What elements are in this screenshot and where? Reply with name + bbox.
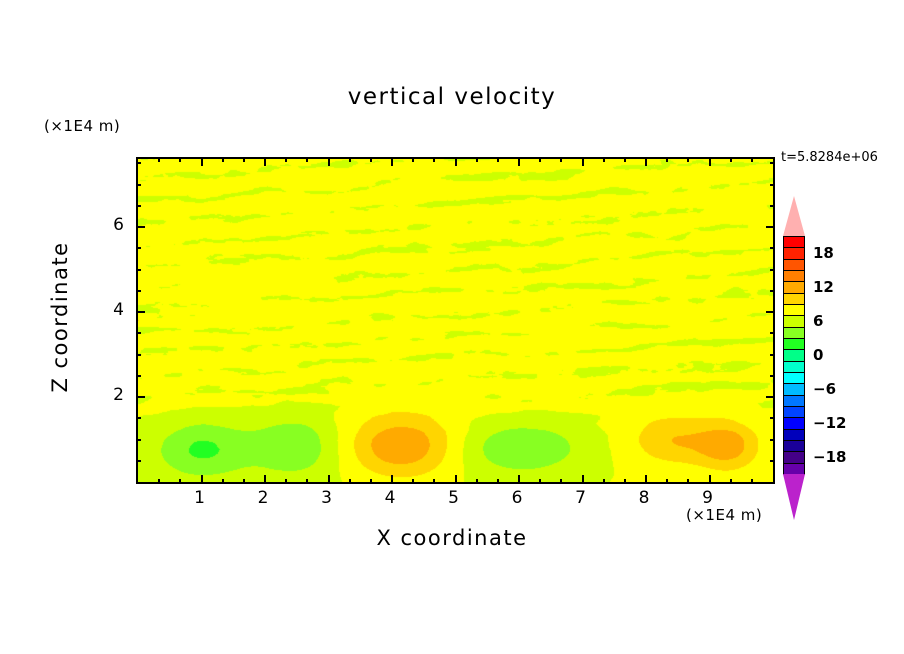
x-axis-minor-tick xyxy=(285,479,287,484)
x-axis-tick xyxy=(391,475,393,484)
x-axis-minor-tick xyxy=(222,157,224,162)
x-axis-minor-tick xyxy=(624,157,626,162)
x-axis-minor-tick xyxy=(666,157,668,162)
x-axis-tick xyxy=(328,157,330,166)
y-axis-minor-tick xyxy=(770,247,775,249)
x-axis-minor-tick xyxy=(370,157,372,162)
x-axis-tick xyxy=(645,157,647,166)
x-axis-minor-tick xyxy=(306,157,308,162)
x-axis-minor-tick xyxy=(666,479,668,484)
colorbar-tick-label: −18 xyxy=(813,448,846,466)
y-axis-minor-tick xyxy=(136,205,141,207)
x-axis-minor-tick xyxy=(179,479,181,484)
colorbar-tick-label: 0 xyxy=(813,346,823,364)
x-axis-minor-tick xyxy=(751,157,753,162)
timestamp-annotation: t=5.8284e+06 xyxy=(781,150,878,165)
x-axis-tick xyxy=(264,157,266,166)
x-axis-minor-tick xyxy=(603,479,605,484)
x-axis-minor-tick xyxy=(243,157,245,162)
x-axis-tick xyxy=(455,475,457,484)
x-axis-tick xyxy=(518,157,520,166)
vertical-velocity-field xyxy=(138,159,773,482)
y-axis-units-label: (×1E4 m) xyxy=(44,117,120,135)
x-axis-minor-tick xyxy=(179,157,181,162)
y-axis-minor-tick xyxy=(136,184,141,186)
y-axis-label: Z coordinate xyxy=(48,207,72,427)
y-axis-minor-tick xyxy=(770,439,775,441)
x-axis-minor-tick xyxy=(370,479,372,484)
x-axis-tick xyxy=(582,157,584,166)
x-axis-minor-tick xyxy=(349,157,351,162)
x-axis-minor-tick xyxy=(687,157,689,162)
x-axis-minor-tick xyxy=(539,479,541,484)
x-axis-minor-tick xyxy=(306,479,308,484)
y-axis-tick xyxy=(766,226,775,228)
colorbar: 181260−6−12−18 xyxy=(783,236,805,474)
x-axis-tick-label: 7 xyxy=(561,488,601,508)
y-axis-minor-tick xyxy=(770,205,775,207)
y-axis-tick xyxy=(136,226,145,228)
x-axis-minor-tick xyxy=(560,157,562,162)
y-axis-minor-tick xyxy=(770,417,775,419)
x-axis-minor-tick xyxy=(433,157,435,162)
x-axis-minor-tick xyxy=(476,157,478,162)
y-axis-minor-tick xyxy=(136,269,141,271)
x-axis-tick xyxy=(201,157,203,166)
x-axis-minor-tick xyxy=(624,479,626,484)
contour-plot-area xyxy=(136,157,775,484)
x-axis-minor-tick xyxy=(412,479,414,484)
x-axis-tick-label: 9 xyxy=(688,488,728,508)
colorbar-tick-label: 6 xyxy=(813,312,823,330)
x-axis-tick xyxy=(201,475,203,484)
x-axis-minor-tick xyxy=(349,479,351,484)
x-axis-minor-tick xyxy=(158,479,160,484)
y-axis-tick-label: 6 xyxy=(84,215,124,235)
y-axis-tick-label: 4 xyxy=(84,300,124,320)
x-axis-minor-tick xyxy=(497,479,499,484)
x-axis-tick-label: 6 xyxy=(497,488,537,508)
x-axis-minor-tick xyxy=(476,479,478,484)
y-axis-minor-tick xyxy=(136,439,141,441)
x-axis-minor-tick xyxy=(730,479,732,484)
x-axis-tick xyxy=(328,475,330,484)
colorbar-tick-label: 12 xyxy=(813,278,834,296)
x-axis-minor-tick xyxy=(412,157,414,162)
x-axis-tick-label: 2 xyxy=(243,488,283,508)
x-axis-tick xyxy=(645,475,647,484)
x-axis-tick xyxy=(391,157,393,166)
y-axis-minor-tick xyxy=(136,375,141,377)
y-axis-minor-tick xyxy=(770,184,775,186)
x-axis-tick xyxy=(582,475,584,484)
y-axis-minor-tick xyxy=(770,269,775,271)
y-axis-minor-tick xyxy=(770,460,775,462)
y-axis-minor-tick xyxy=(136,290,141,292)
colorbar-under-range-cap xyxy=(783,474,805,520)
y-axis-minor-tick xyxy=(770,375,775,377)
y-axis-tick xyxy=(766,311,775,313)
y-axis-minor-tick xyxy=(136,332,141,334)
x-axis-minor-tick xyxy=(730,157,732,162)
x-axis-minor-tick xyxy=(560,479,562,484)
x-axis-minor-tick xyxy=(751,479,753,484)
x-axis-minor-tick xyxy=(497,157,499,162)
y-axis-minor-tick xyxy=(136,417,141,419)
colorbar-tick-label: −12 xyxy=(813,414,846,432)
colorbar-band xyxy=(783,463,805,475)
x-axis-minor-tick xyxy=(687,479,689,484)
y-axis-tick xyxy=(136,396,145,398)
x-axis-label: X coordinate xyxy=(0,526,904,550)
x-axis-tick xyxy=(264,475,266,484)
y-axis-minor-tick xyxy=(136,354,141,356)
x-axis-minor-tick xyxy=(539,157,541,162)
x-axis-tick xyxy=(518,475,520,484)
x-axis-minor-tick xyxy=(158,157,160,162)
colorbar-tick-label: 18 xyxy=(813,244,834,262)
y-axis-tick xyxy=(766,396,775,398)
y-axis-tick-label: 2 xyxy=(84,385,124,405)
x-axis-tick xyxy=(709,475,711,484)
x-axis-tick-label: 4 xyxy=(370,488,410,508)
x-axis-tick xyxy=(455,157,457,166)
colorbar-over-range-cap xyxy=(783,196,805,236)
x-axis-tick-label: 3 xyxy=(307,488,347,508)
x-axis-minor-tick xyxy=(433,479,435,484)
y-axis-minor-tick xyxy=(136,162,141,164)
x-axis-tick-label: 1 xyxy=(180,488,220,508)
x-axis-tick-label: 5 xyxy=(434,488,474,508)
y-axis-minor-tick xyxy=(770,162,775,164)
x-axis-minor-tick xyxy=(222,479,224,484)
y-axis-minor-tick xyxy=(770,332,775,334)
x-axis-minor-tick xyxy=(243,479,245,484)
y-axis-minor-tick xyxy=(770,290,775,292)
x-axis-minor-tick xyxy=(285,157,287,162)
x-axis-minor-tick xyxy=(603,157,605,162)
y-axis-tick xyxy=(136,311,145,313)
y-axis-minor-tick xyxy=(770,354,775,356)
page-title: vertical velocity xyxy=(0,84,904,110)
y-axis-minor-tick xyxy=(136,460,141,462)
x-axis-tick xyxy=(709,157,711,166)
colorbar-tick-label: −6 xyxy=(813,380,836,398)
x-axis-tick-label: 8 xyxy=(624,488,664,508)
x-axis-units-label: (×1E4 m) xyxy=(686,506,762,524)
y-axis-minor-tick xyxy=(136,247,141,249)
